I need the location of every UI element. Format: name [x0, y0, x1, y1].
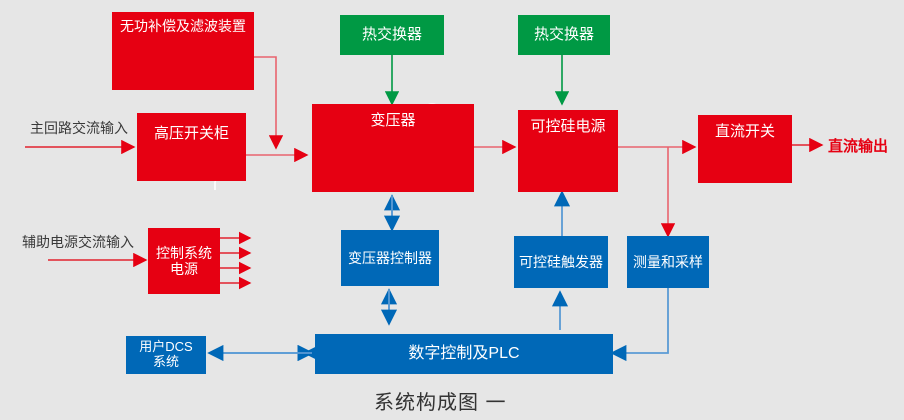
label-aux-ac-input: 辅助电源交流输入	[22, 232, 134, 252]
block-hv-switchgear[interactable]: 高压开关柜	[137, 113, 246, 181]
diagram-title: 系统构成图 一	[374, 386, 507, 415]
block-reactive-compensation[interactable]: 无功补偿及滤波装置	[112, 12, 254, 90]
block-user-dcs[interactable]: 用户DCS 系统	[126, 336, 206, 374]
block-control-system-power[interactable]: 控制系统 电源	[148, 228, 220, 294]
system-composition-diagram: 无功补偿及滤波装置 热交换器 热交换器 高压开关柜 变压器 可控硅电源 直流开关…	[0, 0, 904, 420]
block-heat-exchanger-1[interactable]: 热交换器	[340, 15, 444, 55]
block-label: 用户DCS 系统	[126, 340, 206, 370]
block-transformer[interactable]: 变压器	[312, 104, 474, 192]
block-label: 控制系统 电源	[148, 245, 220, 277]
block-label: 可控硅电源	[518, 118, 618, 135]
block-measurement-sampling[interactable]: 测量和采样	[627, 236, 709, 288]
block-label: 变压器控制器	[341, 250, 439, 266]
block-label: 数字控制及PLC	[315, 345, 613, 363]
block-digital-control-plc[interactable]: 数字控制及PLC	[315, 334, 613, 374]
block-thyristor-power[interactable]: 可控硅电源	[518, 110, 618, 192]
block-label: 高压开关柜	[137, 125, 246, 142]
label-dc-output: 直流输出	[828, 135, 888, 156]
block-label: 热交换器	[340, 26, 444, 43]
block-label: 测量和采样	[627, 254, 709, 270]
block-thyristor-trigger[interactable]: 可控硅触发器	[514, 236, 608, 288]
wire-reactive-compensation-to-bus	[254, 57, 276, 148]
block-label: 热交换器	[518, 26, 610, 43]
wire-control-power-outputs	[220, 238, 250, 283]
block-transformer-controller[interactable]: 变压器控制器	[341, 230, 439, 286]
block-heat-exchanger-2[interactable]: 热交换器	[518, 15, 610, 55]
wire-measurement-to-plc	[612, 288, 668, 353]
label-main-ac-input: 主回路交流输入	[30, 118, 128, 138]
block-label: 变压器	[312, 112, 474, 129]
wire-thyristor-to-dcswitch	[618, 147, 695, 236]
block-label: 可控硅触发器	[514, 254, 608, 270]
block-label: 直流开关	[698, 123, 792, 140]
block-dc-switch[interactable]: 直流开关	[698, 115, 792, 183]
block-label: 无功补偿及滤波装置	[112, 18, 254, 34]
